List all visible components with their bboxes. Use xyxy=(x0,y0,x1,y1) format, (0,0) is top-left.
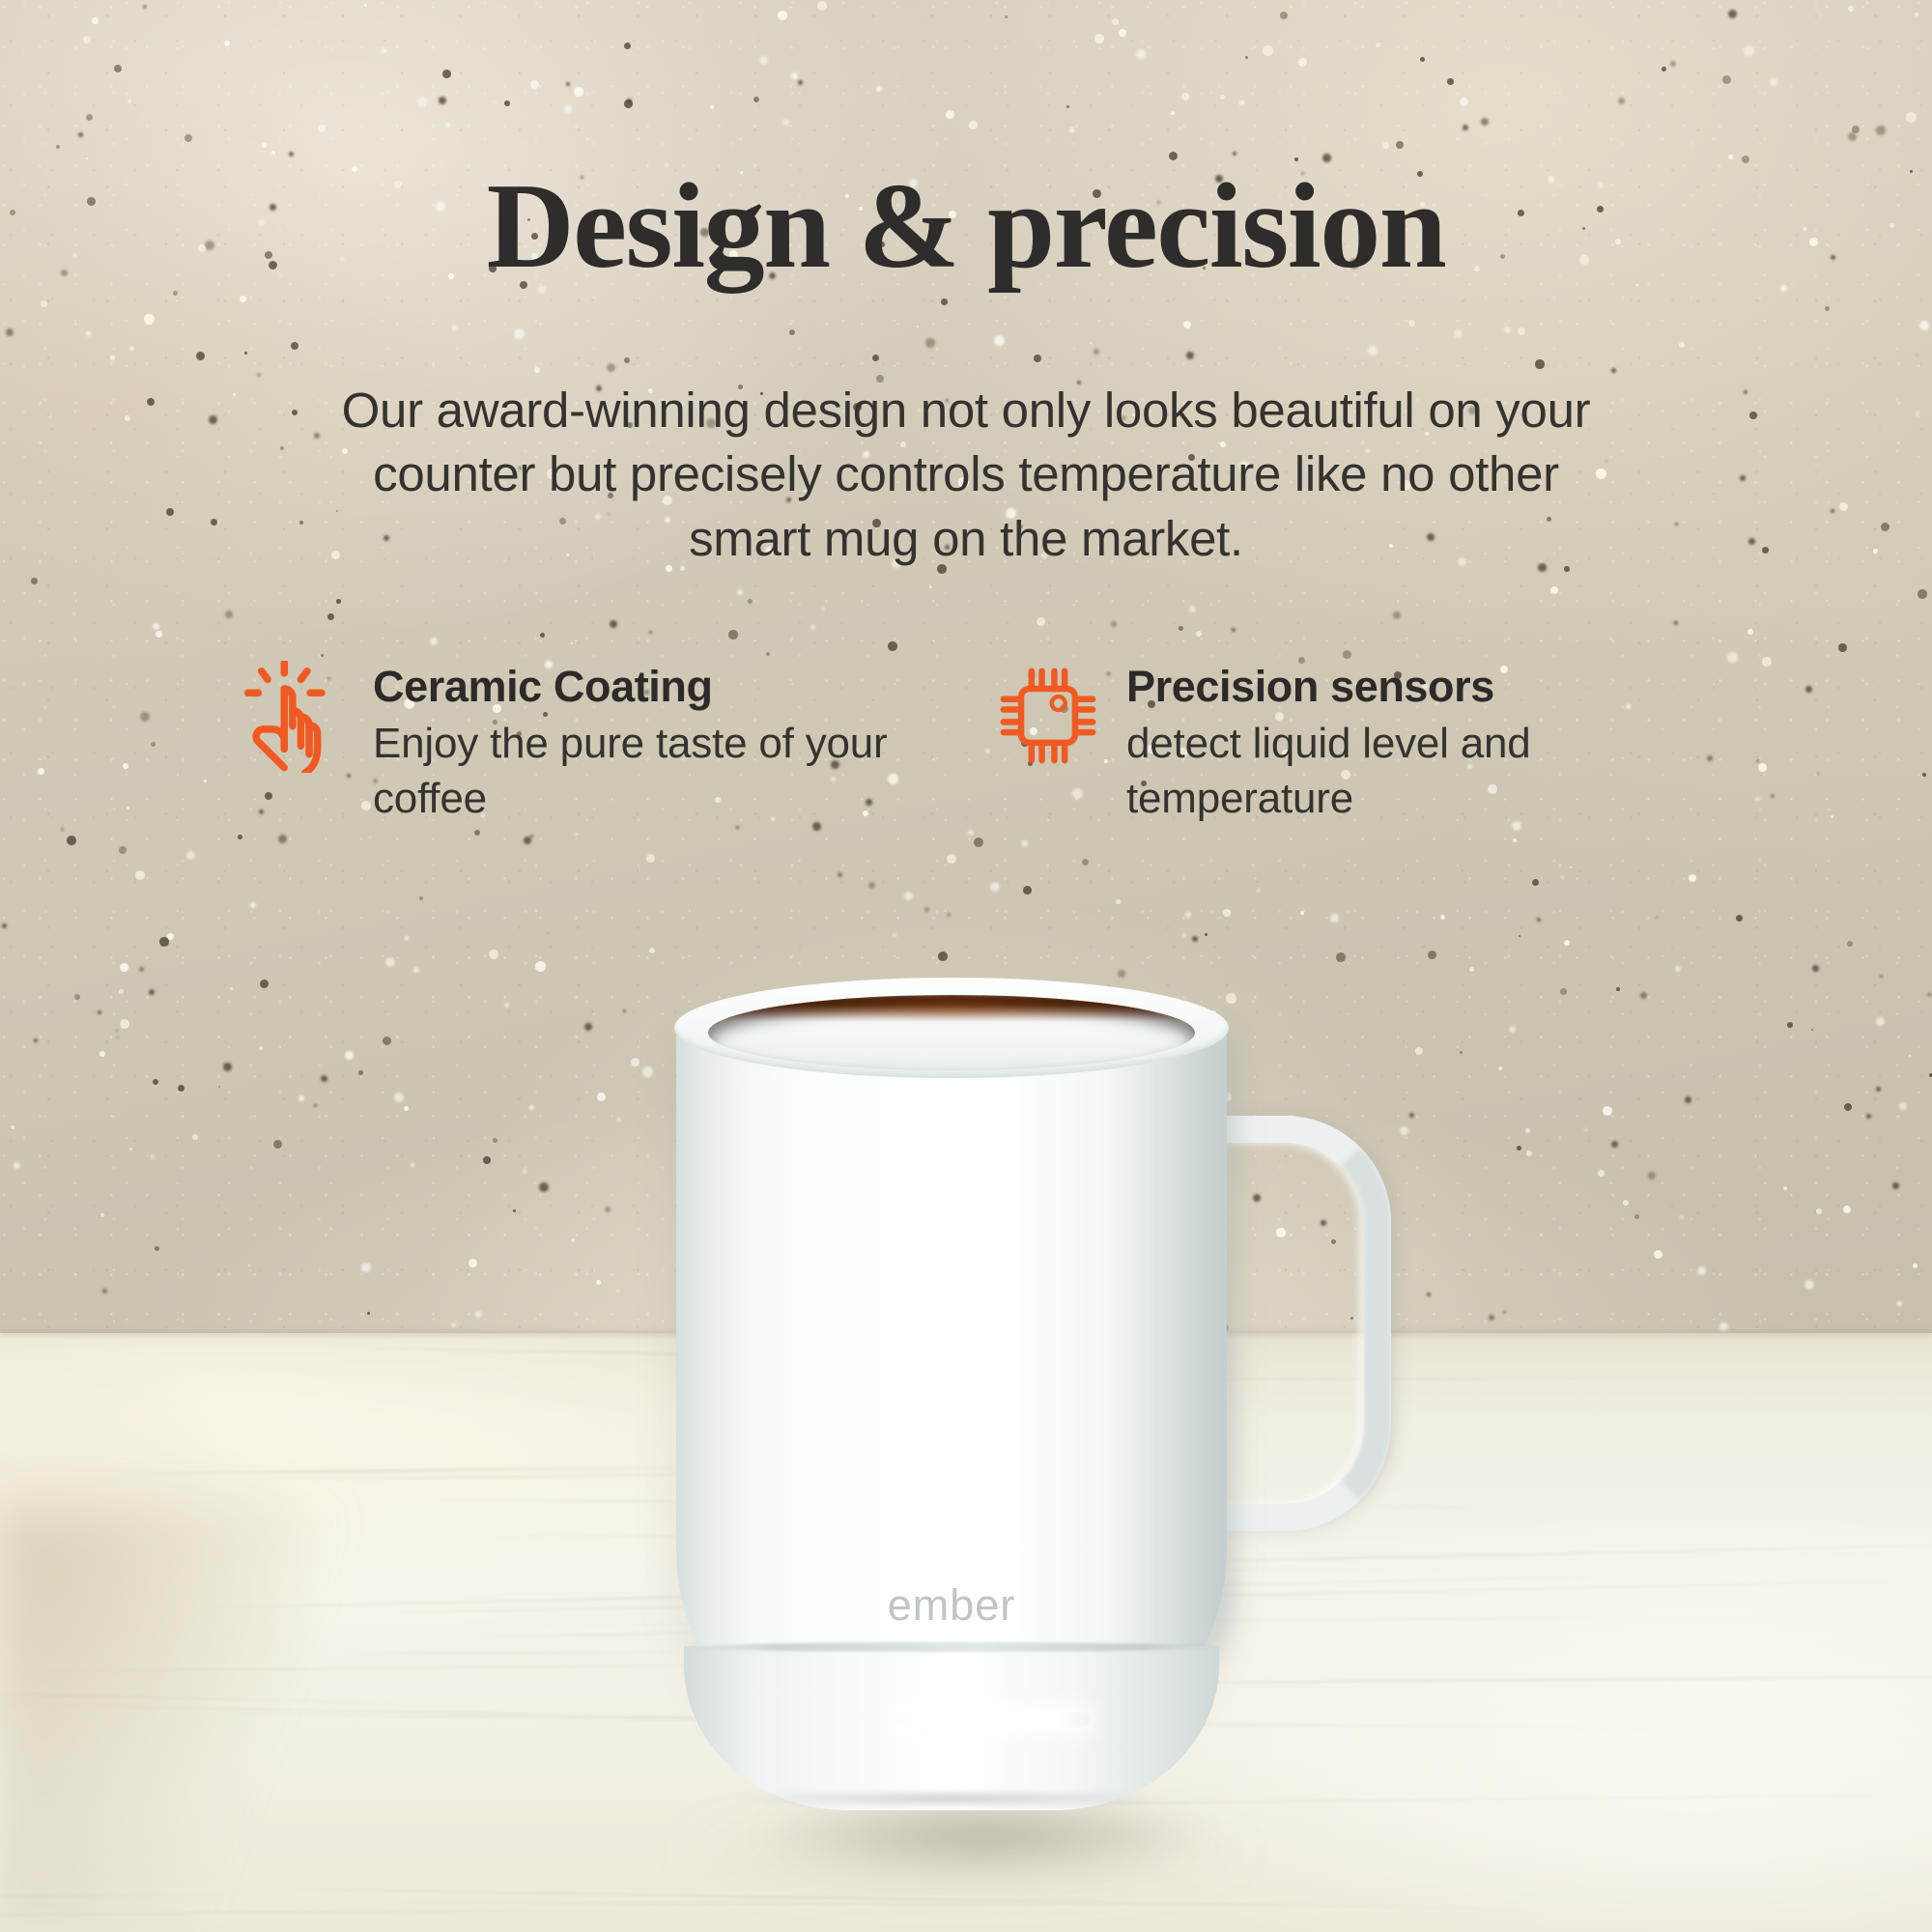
mug-highlight-sheen xyxy=(715,1053,889,1671)
mug-base xyxy=(684,1646,1219,1810)
mug-base-contact-line xyxy=(734,1793,1169,1806)
product-marketing-image: Design & precision Our award-winning des… xyxy=(0,0,1932,1932)
product-mug: ember xyxy=(0,0,1932,1932)
mug-base-seam xyxy=(682,1642,1221,1652)
mug-led-indicator xyxy=(896,1712,1090,1727)
brand-logo: ember xyxy=(676,1580,1227,1631)
coffee-surface xyxy=(708,995,1195,1070)
